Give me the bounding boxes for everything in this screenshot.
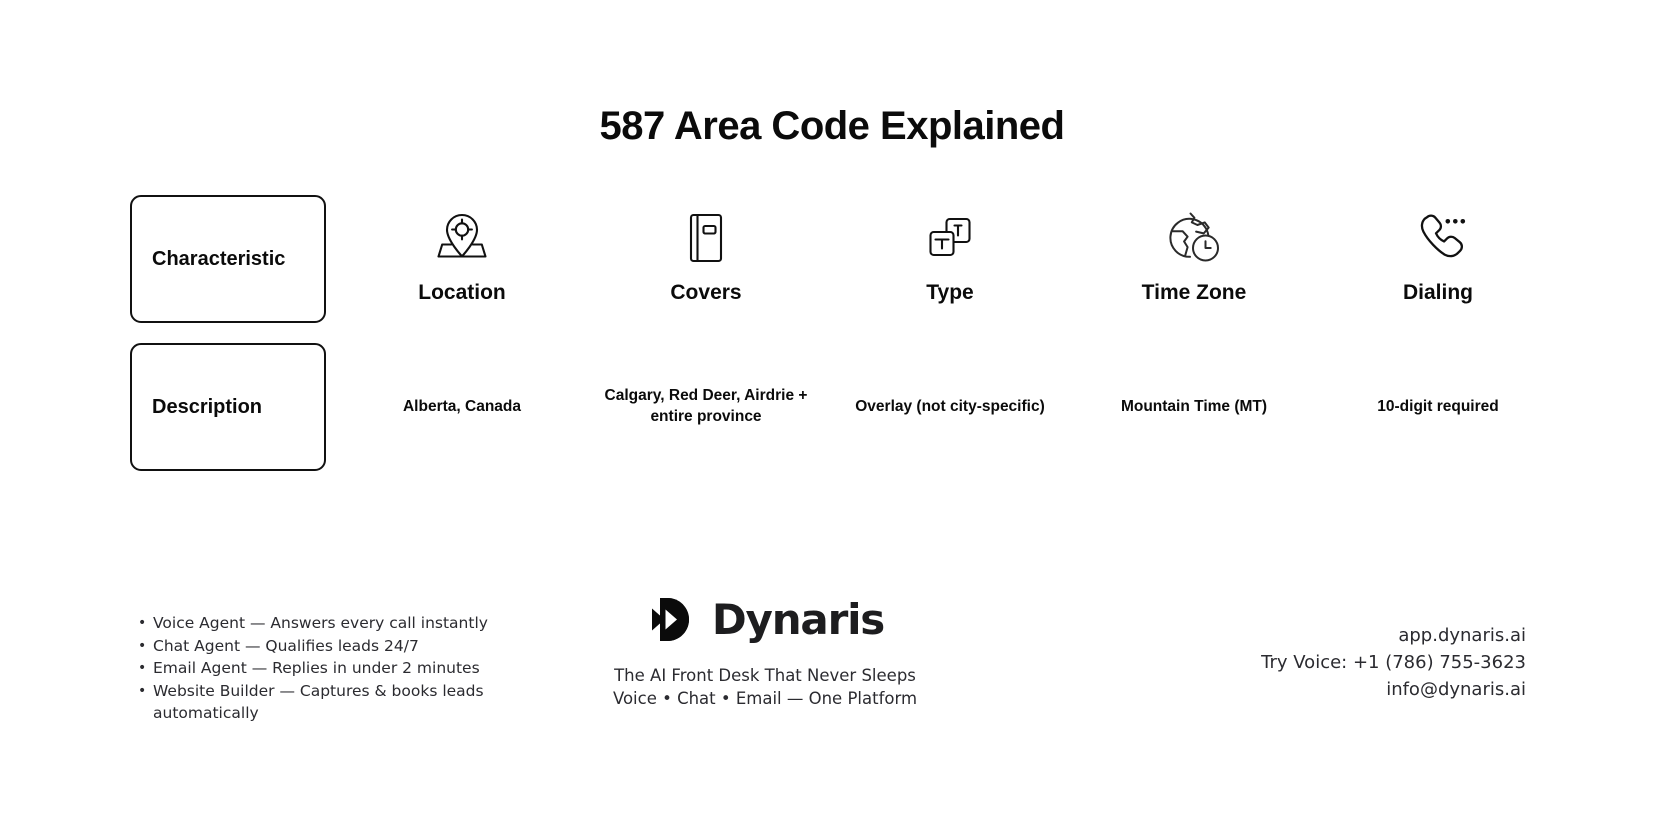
- contact-email[interactable]: info@dynaris.ai: [1106, 676, 1526, 703]
- row-label-description-text: Description: [152, 396, 262, 419]
- cell-time-zone-value: Mountain Time (MT): [1086, 343, 1302, 471]
- row-label-characteristic-text: Characteristic: [152, 248, 285, 271]
- column-header-location-text: Location: [418, 281, 506, 305]
- comparison-table: Characteristic Location Covers: [130, 195, 1534, 471]
- globe-clock-icon: [1164, 207, 1224, 269]
- page-title: 587 Area Code Explained: [0, 104, 1664, 149]
- column-header-location: Location: [354, 195, 570, 323]
- list-item: Website Builder — Captures & books leads…: [138, 680, 498, 725]
- contact-block: app.dynaris.ai Try Voice: +1 (786) 755-3…: [1106, 622, 1526, 703]
- column-header-covers-text: Covers: [670, 281, 741, 305]
- row-label-characteristic: Characteristic: [130, 195, 326, 323]
- logo-wordmark: Dynaris: [712, 599, 884, 641]
- cell-location-value: Alberta, Canada: [354, 343, 570, 471]
- logo-row: Dynaris: [565, 592, 965, 648]
- cell-covers-value: Calgary, Red Deer, Airdrie + entire prov…: [598, 343, 814, 471]
- features-list: Voice Agent — Answers every call instant…: [138, 612, 498, 725]
- list-item: Chat Agent — Qualifies leads 24/7: [138, 635, 498, 658]
- tagline-line-1: The AI Front Desk That Never Sleeps: [565, 664, 965, 687]
- column-header-covers: Covers: [598, 195, 814, 323]
- column-header-dialing-text: Dialing: [1403, 281, 1473, 305]
- brand-block: Dynaris The AI Front Desk That Never Sle…: [565, 592, 965, 710]
- list-item: Voice Agent — Answers every call instant…: [138, 612, 498, 635]
- dynaris-logo-icon: [646, 594, 698, 646]
- contact-website[interactable]: app.dynaris.ai: [1106, 622, 1526, 649]
- type-tiles-icon: [922, 207, 978, 269]
- list-item: Email Agent — Replies in under 2 minutes: [138, 657, 498, 680]
- location-pin-icon: [434, 207, 490, 269]
- column-header-time-zone: Time Zone: [1086, 195, 1302, 323]
- book-icon: [681, 207, 731, 269]
- column-header-type: Type: [842, 195, 1058, 323]
- cell-type-value: Overlay (not city-specific): [842, 343, 1058, 471]
- column-header-dialing: Dialing: [1330, 195, 1546, 323]
- cell-dialing-value: 10-digit required: [1330, 343, 1546, 471]
- column-header-time-zone-text: Time Zone: [1142, 281, 1247, 305]
- row-label-description: Description: [130, 343, 326, 471]
- tagline-line-2: Voice • Chat • Email — One Platform: [565, 687, 965, 710]
- contact-phone[interactable]: Try Voice: +1 (786) 755-3623: [1106, 649, 1526, 676]
- column-header-type-text: Type: [926, 281, 973, 305]
- phone-dialing-icon: [1408, 207, 1468, 269]
- brand-tagline: The AI Front Desk That Never Sleeps Voic…: [565, 664, 965, 710]
